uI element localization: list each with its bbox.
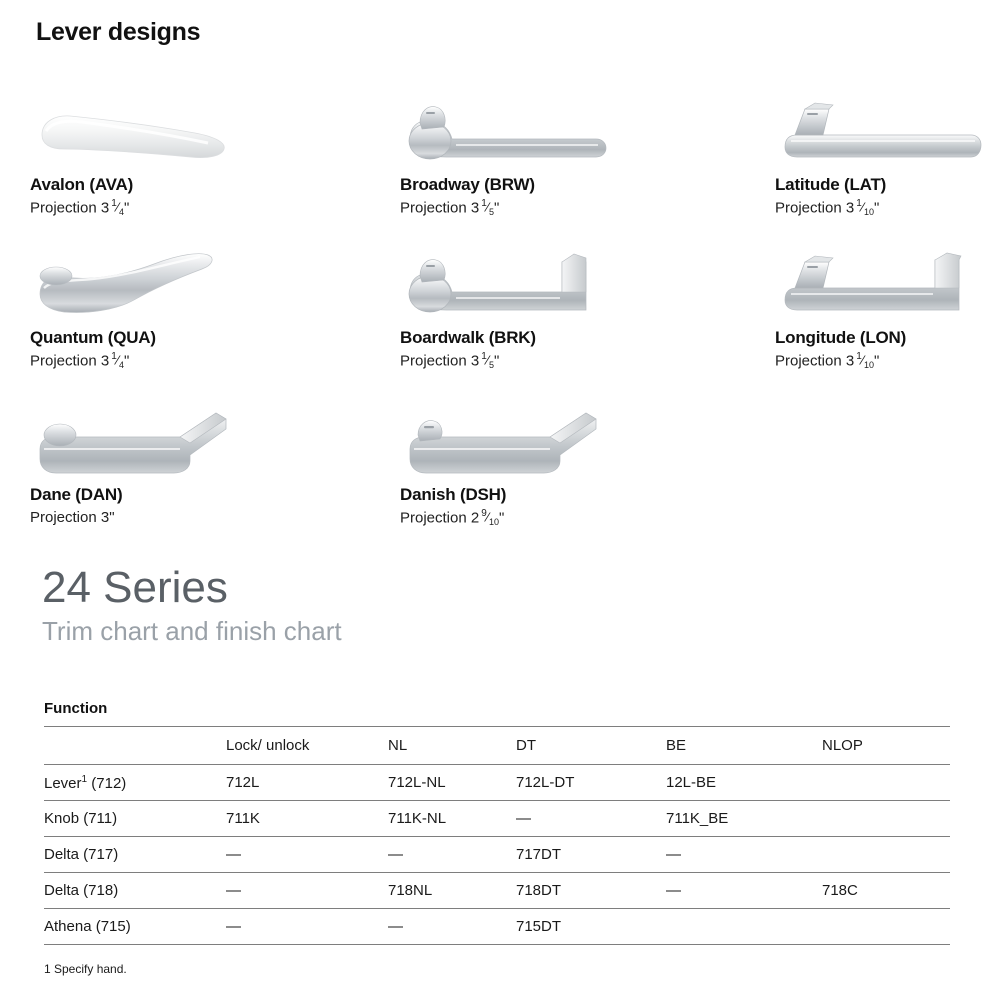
row-function-label: Delta (718): [44, 873, 226, 909]
series-heading-block: 24 Series Trim chart and finish chart: [42, 565, 342, 647]
table-cell: [822, 837, 950, 873]
longitude-lever-image: [775, 248, 990, 324]
series-title: 24 Series: [42, 565, 342, 611]
lever-card-dane: Dane (DAN)Projection 3": [30, 405, 330, 526]
trim-chart-table: Lock/ unlockNLDTBENLOP Lever1 (712)712L7…: [44, 726, 950, 945]
lever-projection: Projection 31⁄5": [400, 352, 700, 371]
table-cell: 711K_BE: [666, 801, 822, 837]
table-cell: [666, 909, 822, 945]
lever-card-longitude: Longitude (LON)Projection 31⁄10": [775, 248, 1000, 371]
dane-lever-image: [30, 405, 245, 481]
table-cell: —: [666, 873, 822, 909]
row-function-label: Knob (711): [44, 801, 226, 837]
lever-projection: Projection 31⁄5": [400, 199, 700, 218]
danish-lever-image: [400, 405, 615, 481]
lever-card-avalon: Avalon (AVA)Projection 31⁄4": [30, 95, 330, 218]
latitude-lever-image: [775, 95, 990, 171]
table-body: Lever1 (712)712L712L-NL712L-DT12L-BEKnob…: [44, 765, 950, 945]
lever-name: Quantum (QUA): [30, 328, 330, 348]
row-function-label: Lever1 (712): [44, 765, 226, 801]
lever-name: Avalon (AVA): [30, 175, 330, 195]
row-function-label: Athena (715): [44, 909, 226, 945]
avalon-lever-image: [30, 95, 245, 171]
series-subtitle: Trim chart and finish chart: [42, 616, 342, 647]
table-cell: 717DT: [516, 837, 666, 873]
row-function-label: Delta (717): [44, 837, 226, 873]
table-cell: [822, 909, 950, 945]
lever-name: Boardwalk (BRK): [400, 328, 700, 348]
table-cell: 711K-NL: [388, 801, 516, 837]
table-cell: —: [388, 909, 516, 945]
table-cell: 715DT: [516, 909, 666, 945]
column-header-nlop: NLOP: [822, 727, 950, 765]
table-row: Athena (715)——715DT: [44, 909, 950, 945]
lever-projection: Projection 31⁄4": [30, 352, 330, 371]
table-head: Lock/ unlockNLDTBENLOP: [44, 727, 950, 765]
table-cell: 718C: [822, 873, 950, 909]
table-cell: 712L-DT: [516, 765, 666, 801]
table-cell: —: [226, 837, 388, 873]
document-page: Lever designs Avalon (AVA)Projection 31⁄…: [0, 0, 1000, 1000]
table-cell: [822, 801, 950, 837]
boardwalk-lever-image: [400, 248, 615, 324]
table-footnote: 1 Specify hand.: [44, 962, 127, 976]
table-header-row: Lock/ unlockNLDTBENLOP: [44, 727, 950, 765]
table-cell: [822, 765, 950, 801]
lever-card-quantum: Quantum (QUA)Projection 31⁄4": [30, 248, 330, 371]
table-cell: —: [666, 837, 822, 873]
lever-projection: Projection 3": [30, 509, 330, 526]
table-cell: —: [226, 873, 388, 909]
column-header-dt: DT: [516, 727, 666, 765]
lever-name: Longitude (LON): [775, 328, 1000, 348]
lever-projection: Projection 31⁄4": [30, 199, 330, 218]
quantum-lever-image: [30, 248, 245, 324]
lever-projection: Projection 31⁄10": [775, 352, 1000, 371]
table-cell: 12L-BE: [666, 765, 822, 801]
table-cell: —: [516, 801, 666, 837]
column-header-function: [44, 727, 226, 765]
lever-projection: Projection 31⁄10": [775, 199, 1000, 218]
table-row: Knob (711)711K711K-NL—711K_BE: [44, 801, 950, 837]
table-cell: —: [388, 837, 516, 873]
lever-name: Dane (DAN): [30, 485, 330, 505]
table-cell: 711K: [226, 801, 388, 837]
table-cell: 718NL: [388, 873, 516, 909]
table-row: Delta (718)—718NL718DT—718C: [44, 873, 950, 909]
lever-name: Danish (DSH): [400, 485, 700, 505]
table-cell: 712L-NL: [388, 765, 516, 801]
column-header-be: BE: [666, 727, 822, 765]
broadway-lever-image: [400, 95, 615, 171]
table-row: Delta (717)——717DT—: [44, 837, 950, 873]
column-header-lockunlock: Lock/ unlock: [226, 727, 388, 765]
table-cell: —: [226, 909, 388, 945]
lever-card-danish: Danish (DSH)Projection 29⁄10": [400, 405, 700, 528]
lever-card-broadway: Broadway (BRW)Projection 31⁄5": [400, 95, 700, 218]
table-cell: 712L: [226, 765, 388, 801]
table-cell: 718DT: [516, 873, 666, 909]
page-title: Lever designs: [36, 18, 200, 47]
table-row: Lever1 (712)712L712L-NL712L-DT12L-BE: [44, 765, 950, 801]
function-label: Function: [44, 700, 950, 717]
lever-projection: Projection 29⁄10": [400, 509, 700, 528]
lever-card-boardwalk: Boardwalk (BRK)Projection 31⁄5": [400, 248, 700, 371]
trim-chart-block: Function Lock/ unlockNLDTBENLOP Lever1 (…: [44, 700, 950, 945]
lever-name: Broadway (BRW): [400, 175, 700, 195]
column-header-nl: NL: [388, 727, 516, 765]
lever-card-latitude: Latitude (LAT)Projection 31⁄10": [775, 95, 1000, 218]
lever-name: Latitude (LAT): [775, 175, 1000, 195]
